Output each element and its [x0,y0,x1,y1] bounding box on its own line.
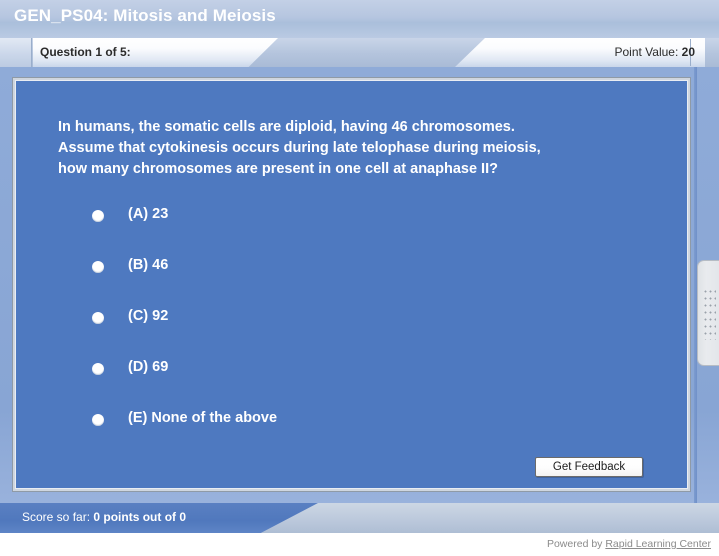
score-bar: Score so far: 0 points out of 0 [0,503,719,533]
radio-button-e[interactable] [92,414,104,426]
score-status: Score so far: 0 points out of 0 [22,510,186,524]
option-row-d[interactable]: (D) 69 [92,359,612,410]
question-text: In humans, the somatic cells are diploid… [58,117,638,180]
question-line-1: In humans, the somatic cells are diploid… [58,117,638,138]
powered-by: Powered by Rapid Learning Center [547,538,711,550]
option-label-b[interactable]: (B) 46 [128,257,168,273]
question-line-3: how many chromosomes are present in one … [58,159,638,180]
content-frame: In humans, the somatic cells are diploid… [0,67,719,525]
question-line-2: Assume that cytokinesis occurs during la… [58,138,638,159]
option-row-e[interactable]: (E) None of the above [92,410,612,461]
option-label-d[interactable]: (D) 69 [128,359,168,375]
radio-button-a[interactable] [92,210,104,222]
radio-button-c[interactable] [92,312,104,324]
question-counter: Question 1 of 5: [40,45,131,59]
point-value-label: Point Value: [614,45,681,59]
grip-dots-icon [703,288,716,340]
question-panel: In humans, the somatic cells are diploid… [12,77,691,492]
option-row-c[interactable]: (C) 92 [92,308,612,359]
radio-button-d[interactable] [92,363,104,375]
point-value: Point Value: 20 [614,45,695,59]
question-panel-inner: In humans, the somatic cells are diploid… [15,80,688,489]
score-value: 0 points out of 0 [93,510,186,524]
option-label-e[interactable]: (E) None of the above [128,410,277,426]
powered-by-label: Powered by [547,538,605,550]
answer-options: (A) 23 (B) 46 (C) 92 (D) 69 [92,206,612,461]
point-value-number: 20 [682,45,695,59]
question-status-bar: Question 1 of 5: Point Value: 20 [0,38,719,67]
radio-button-b[interactable] [92,261,104,273]
option-label-a[interactable]: (A) 23 [128,206,168,222]
brand-link[interactable]: Rapid Learning Center [605,538,711,550]
footer: Powered by Rapid Learning Center [0,533,719,556]
score-label: Score so far: [22,510,93,524]
quiz-window: GEN_PS04: Mitosis and Meiosis Question 1… [0,0,719,556]
option-row-b[interactable]: (B) 46 [92,257,612,308]
option-label-c[interactable]: (C) 92 [128,308,168,324]
option-row-a[interactable]: (A) 23 [92,206,612,257]
title-bar: GEN_PS04: Mitosis and Meiosis [0,0,719,38]
resize-grip-handle[interactable] [697,260,719,366]
page-title: GEN_PS04: Mitosis and Meiosis [14,6,276,26]
status-bar-left-cap [0,38,32,67]
get-feedback-button[interactable]: Get Feedback [535,457,643,477]
